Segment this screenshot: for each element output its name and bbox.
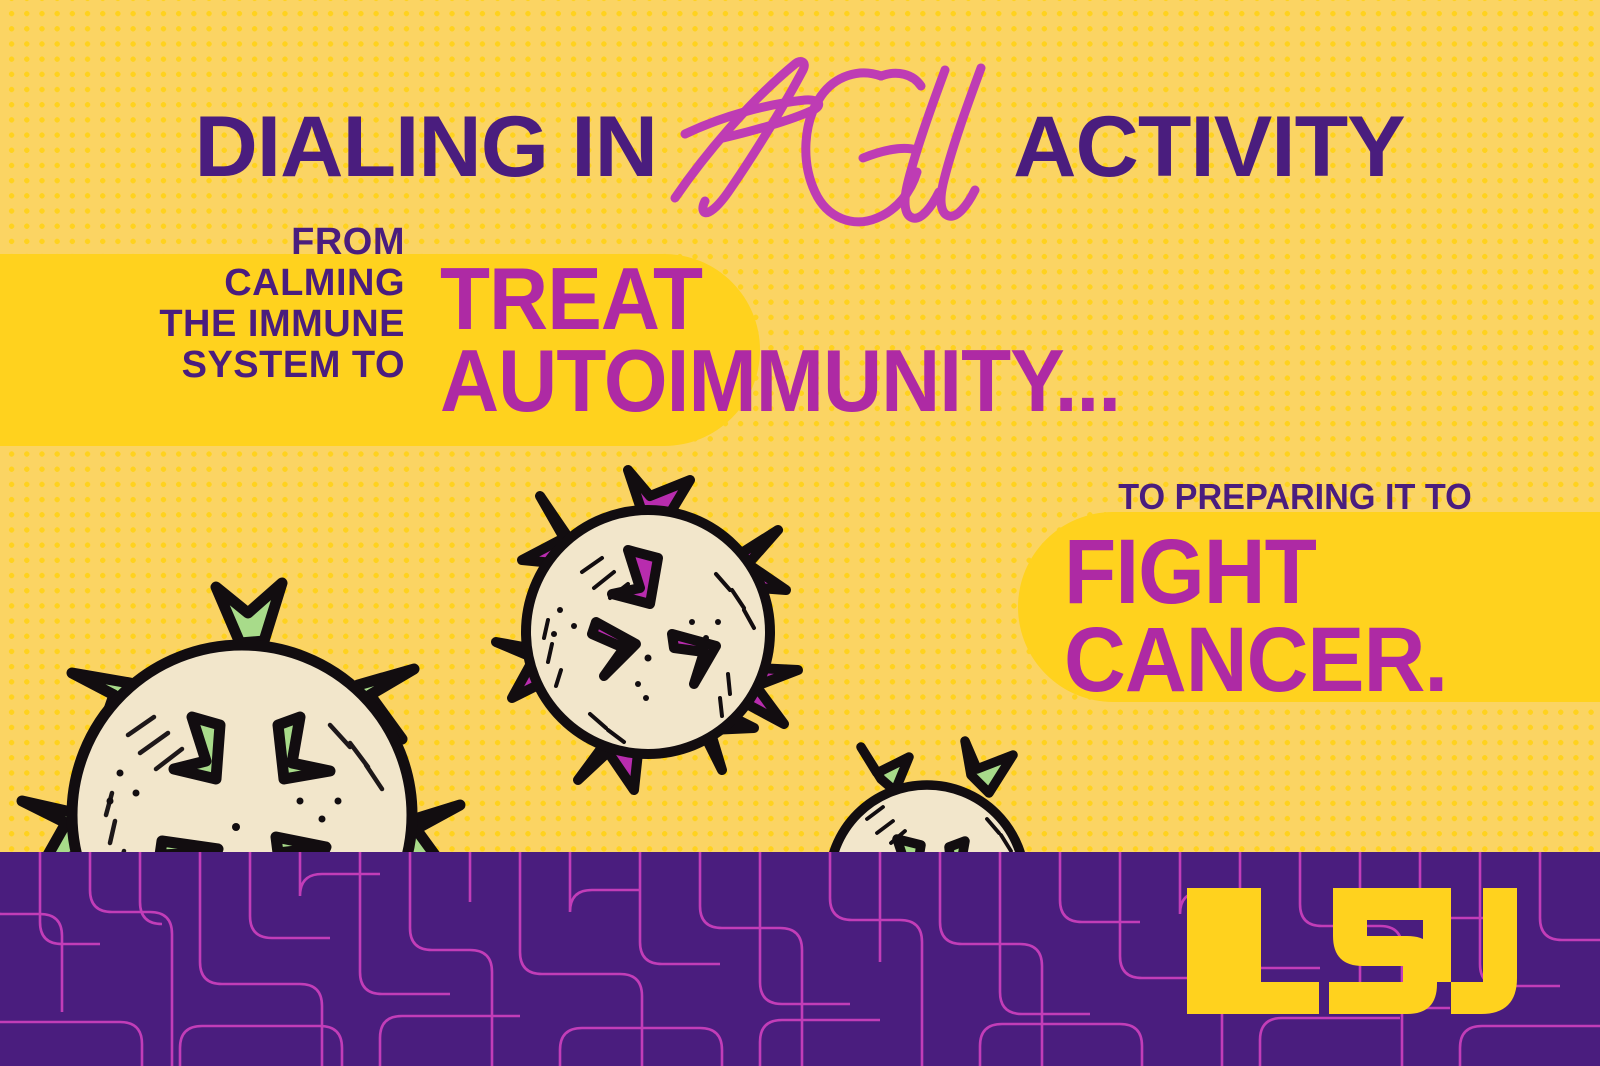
treat-line-2: AUTOIMMUNITY... [440, 340, 1120, 422]
t-cell-illustration-medium [478, 462, 818, 802]
headline-part1: DIALING IN [194, 98, 657, 197]
to-preparing-kicker: TO PREPARING IT TO [1072, 476, 1519, 518]
from-line-1: FROM [100, 222, 405, 263]
headline-script-tcell [645, 46, 1025, 236]
poster-canvas: DIALING IN ACTIVITY FROM CALMING THE IMM… [0, 0, 1600, 1066]
lsu-logo [1185, 886, 1545, 1016]
headline-part2: ACTIVITY [1013, 98, 1404, 197]
from-line-2: CALMING [100, 263, 405, 304]
from-line-3: THE IMMUNE [100, 304, 405, 345]
fight-line-1: FIGHT [1064, 528, 1510, 616]
from-line-4: SYSTEM TO [100, 345, 405, 386]
from-calming-copy: FROM CALMING THE IMMUNE SYSTEM TO [100, 222, 405, 386]
fight-cancer-copy: FIGHT CANCER. [1064, 528, 1510, 705]
treat-autoimmunity-copy: TREAT AUTOIMMUNITY... [440, 258, 1120, 422]
treat-line-1: TREAT [440, 258, 1120, 340]
headline: DIALING IN ACTIVITY [0, 52, 1600, 242]
fight-line-2: CANCER. [1064, 616, 1510, 704]
